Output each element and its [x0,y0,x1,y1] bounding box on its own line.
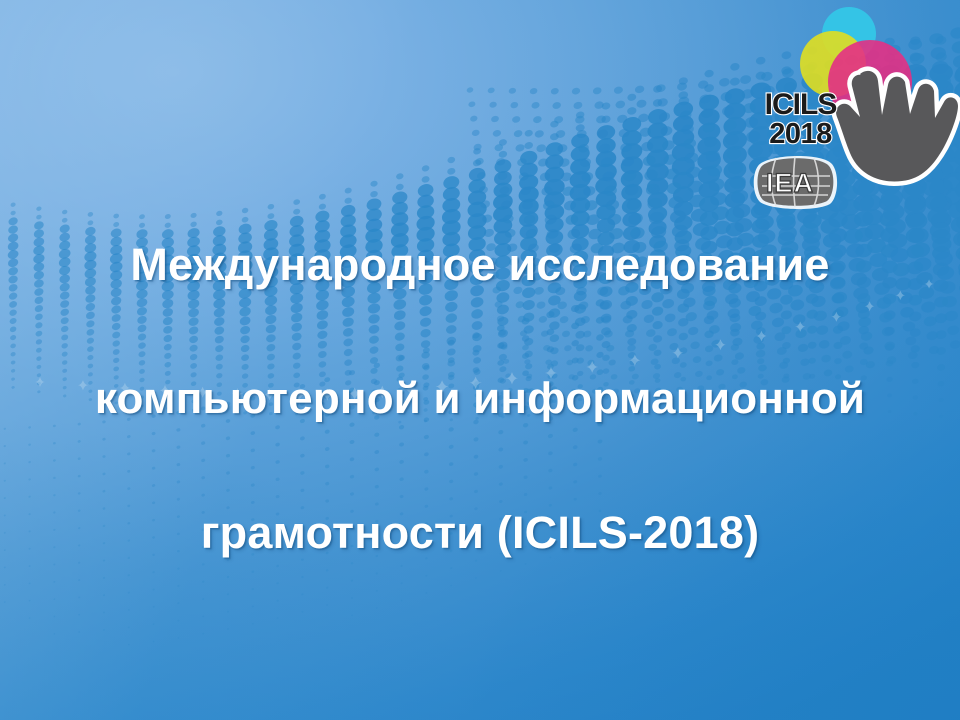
icils-logo: IEA ICILS 2018 [742,2,960,214]
page-title: Международное исследование компьютерной … [0,198,960,600]
iea-globe-icon: IEA [754,156,837,209]
svg-text:IEA: IEA [766,168,814,198]
hand-icon [836,71,958,182]
title-line-1: Международное исследование [0,198,960,332]
title-line-3: грамотности (ICILS-2018) [0,466,960,600]
title-line-2: компьютерной и информационной [0,332,960,466]
title-slide: Международное исследование компьютерной … [0,0,960,720]
